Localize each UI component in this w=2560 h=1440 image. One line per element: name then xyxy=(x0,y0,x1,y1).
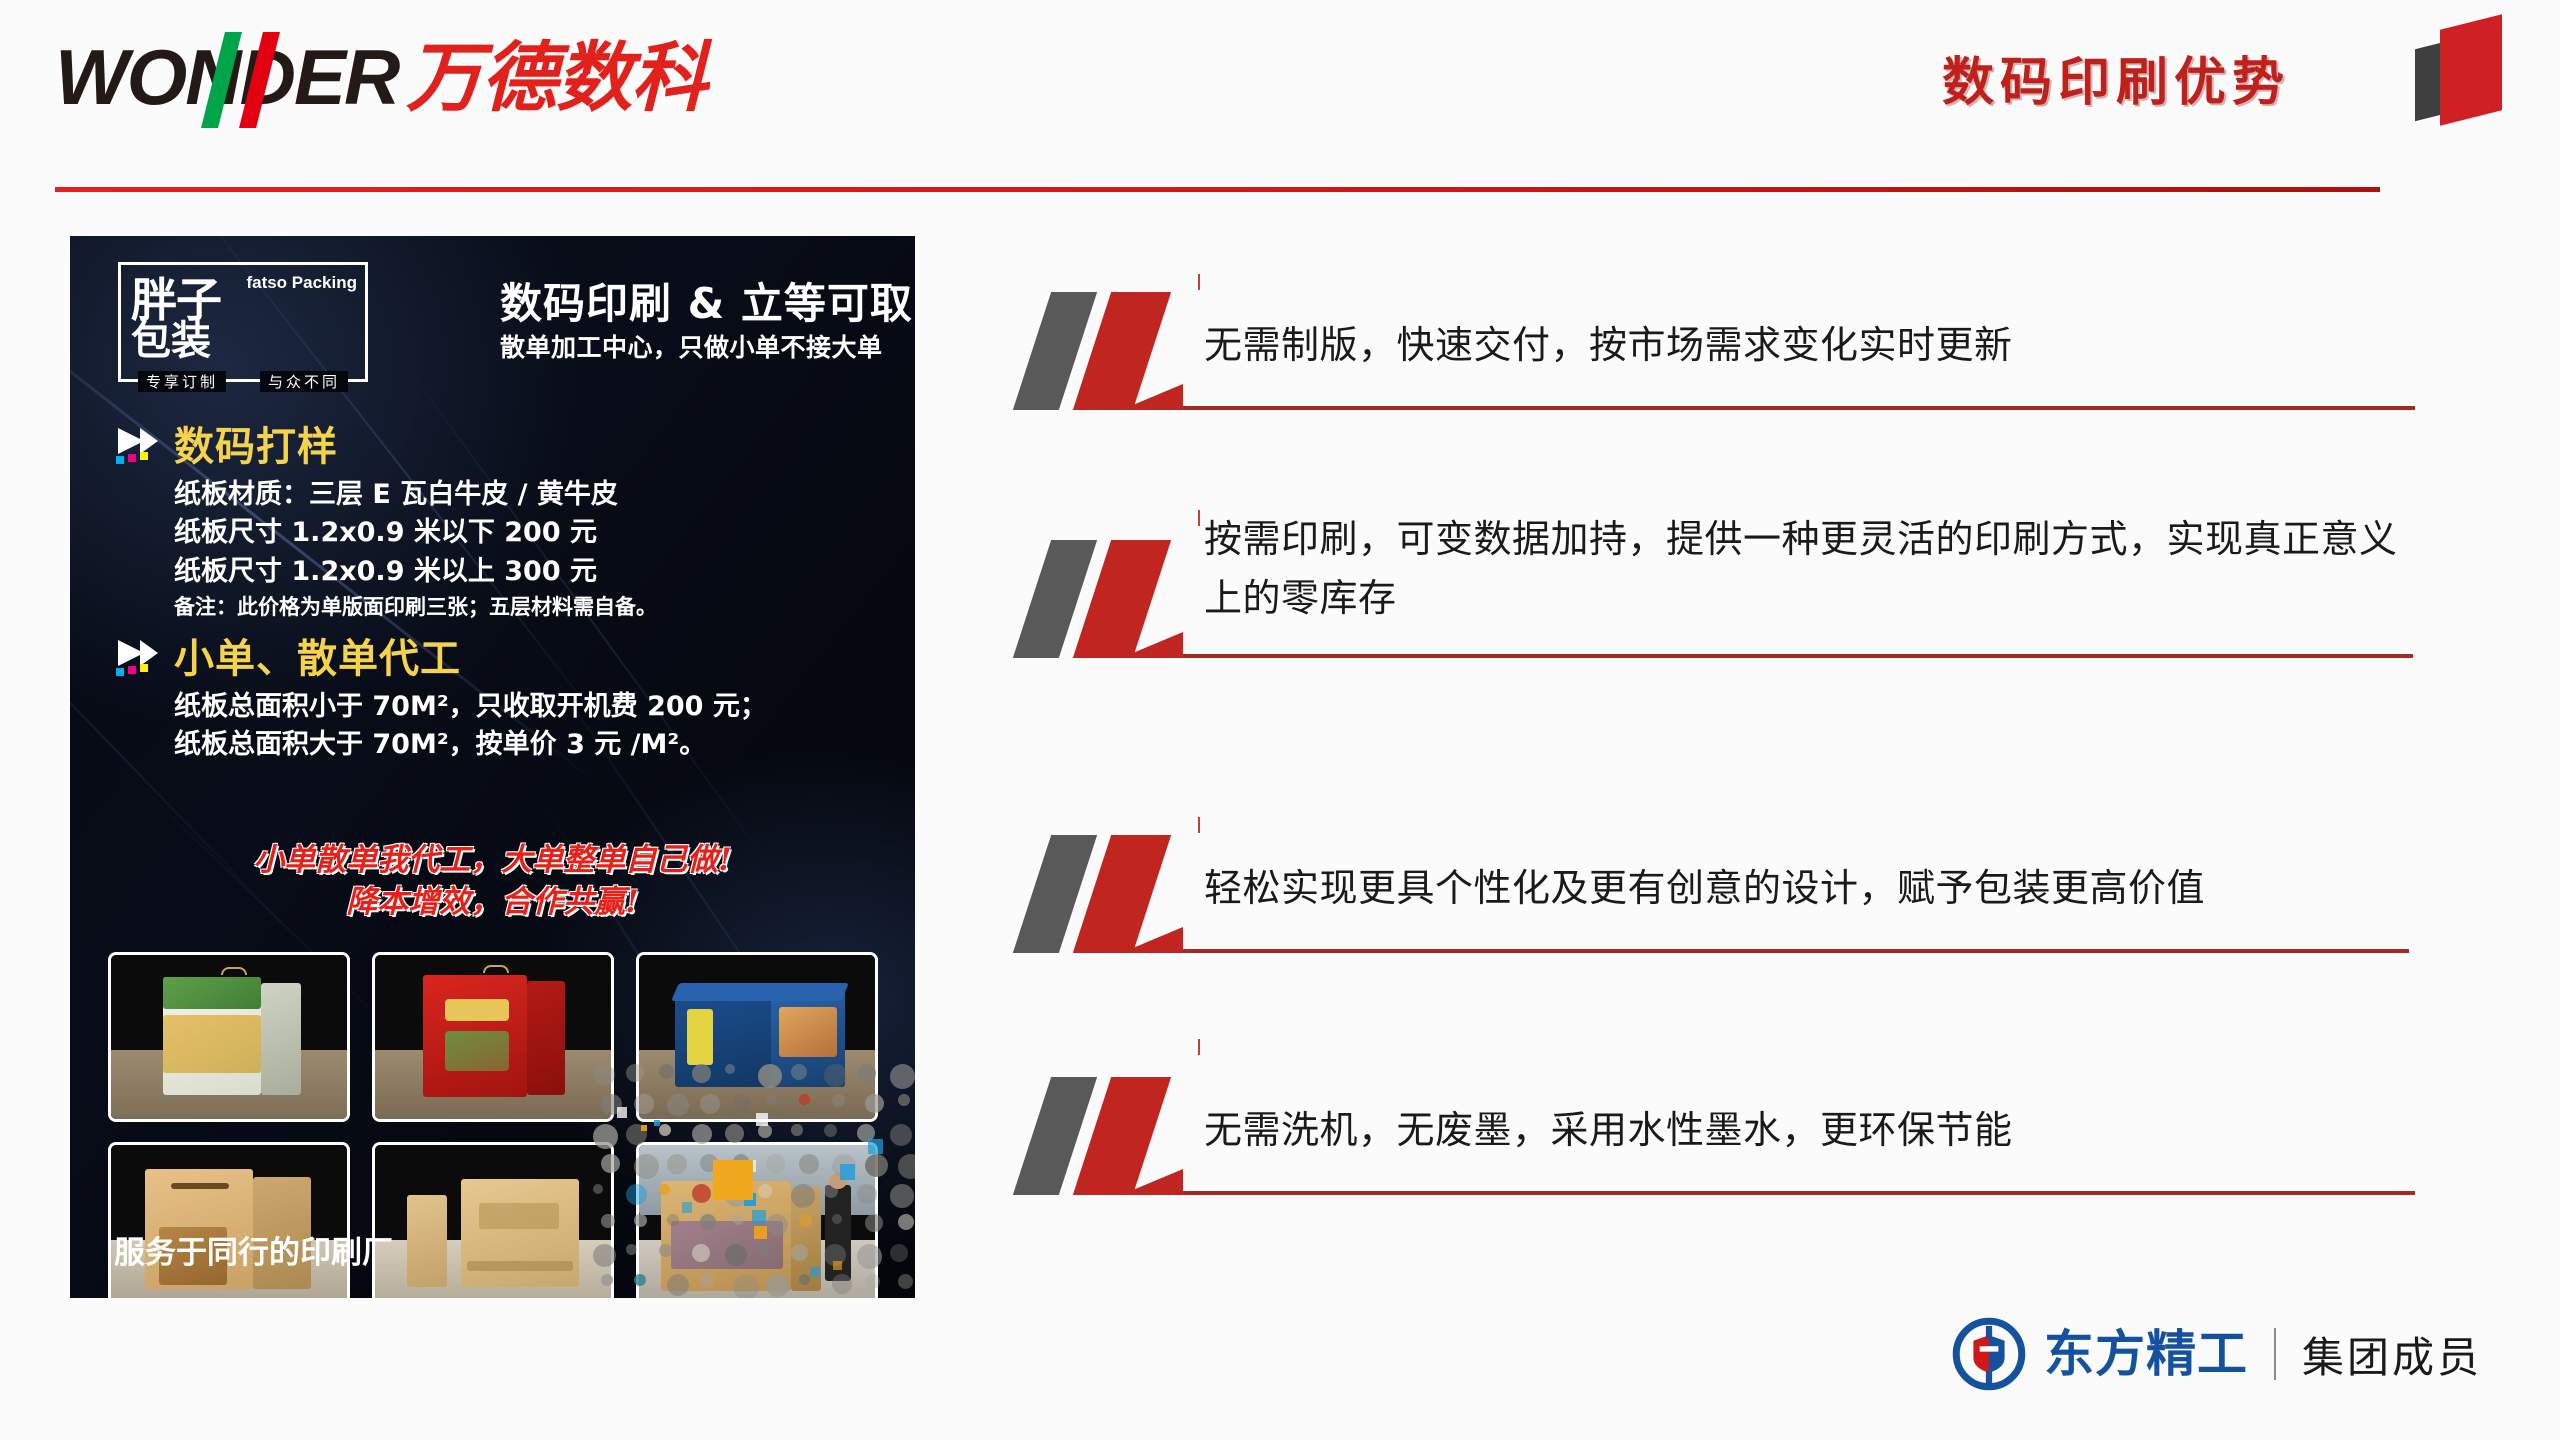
poster-subline: 散单加工中心，只做小单不接大单 xyxy=(500,328,883,364)
poster-dot-pattern xyxy=(585,1048,915,1298)
bullet-underline-3 xyxy=(1183,949,2409,953)
header-divider xyxy=(55,187,2380,192)
bullet-marker-icon xyxy=(1018,540,1186,658)
bullet-marker-icon xyxy=(1018,1077,1186,1195)
footer-divider xyxy=(2274,1328,2276,1380)
logo-wordmark-cn: 万德数科 xyxy=(406,40,706,116)
advantage-text-3: 轻松实现更具个性化及更有创意的设计，赋予包装更高价值 xyxy=(1204,859,2434,918)
poster-section-2-line-2: 纸板总面积大于 70M²，按单价 3 元 /M²。 xyxy=(174,726,767,764)
gallery-item-red-chicken-box xyxy=(372,952,614,1122)
poster-brand-tags: 专享订制 与众不同 xyxy=(121,371,365,392)
dongfang-jinggong-logo-icon xyxy=(1950,1315,2028,1393)
poster-brand-english: fatso Packing xyxy=(246,273,357,293)
poster-section-1-head: 数码打样 xyxy=(112,424,657,470)
group-member-logo: 东方精工 集团成员 xyxy=(1950,1315,2482,1393)
advantage-text-1: 无需制版，快速交付，按市场需求变化实时更新 xyxy=(1204,316,2434,375)
corner-decoration-icon xyxy=(2410,8,2522,118)
logo-wordmark-en: WONDER xyxy=(55,38,398,116)
poster-brand-tag-left: 专享订制 xyxy=(138,371,226,392)
bullet-tick-icon xyxy=(1198,1039,1200,1055)
poster-section-1-line-2: 纸板尺寸 1.2x0.9 米以下 200 元 xyxy=(174,514,657,552)
poster-footer-text: 服务于同行的印刷厂 xyxy=(114,1227,393,1272)
poster-slogan-line-1: 小单散单我代工，大单整单自己做! xyxy=(70,840,915,882)
poster-brand-name-line2: 包装 xyxy=(131,321,211,361)
gallery-item-kraft-handle-box xyxy=(108,1142,350,1298)
bullet-tick-icon xyxy=(1198,274,1200,290)
poster-section-digital-proofing: 数码打样 纸板材质：三层 E 瓦白牛皮 / 黄牛皮 纸板尺寸 1.2x0.9 米… xyxy=(112,424,657,623)
poster-slogan: 小单散单我代工，大单整单自己做! 降本增效，合作共赢! xyxy=(70,840,915,924)
gallery-item-honey-box xyxy=(108,952,350,1122)
poster-section-1-line-3: 纸板尺寸 1.2x0.9 米以上 300 元 xyxy=(174,553,657,591)
poster-section-2-body: 纸板总面积小于 70M²，只收取开机费 200 元； 纸板总面积大于 70M²，… xyxy=(174,688,767,765)
poster-section-1-note: 备注：此价格为单版面印刷三张；五层材料需自备。 xyxy=(174,593,657,623)
bullet-marker-icon xyxy=(1018,292,1186,410)
poster-brand-badge: 胖子 fatso Packing 包装 专享订制 与众不同 xyxy=(118,262,368,382)
poster-brand-tag-right: 与众不同 xyxy=(260,371,348,392)
poster-section-2-head: 小单、散单代工 xyxy=(112,636,767,682)
poster-slogan-line-2: 降本增效，合作共赢! xyxy=(70,882,915,924)
poster-section-2-line-1: 纸板总面积小于 70M²，只收取开机费 200 元； xyxy=(174,688,767,726)
page-title: 数码印刷优势 xyxy=(1942,40,2290,115)
company-logo: WONDER 万德数科 xyxy=(55,38,706,116)
advantage-text-2: 按需印刷，可变数据加持，提供一种更灵活的印刷方式，实现真正意义上的零库存 xyxy=(1204,510,2419,628)
poster-section-1-title: 数码打样 xyxy=(174,427,338,467)
poster-brand-name-line1: 胖子 xyxy=(131,277,221,323)
bullet-marker-icon xyxy=(1018,835,1186,953)
chevron-right-icon xyxy=(112,424,174,470)
bullet-underline-4 xyxy=(1183,1191,2415,1195)
corner-dark-shape xyxy=(2415,43,2441,121)
poster-section-1-body: 纸板材质：三层 E 瓦白牛皮 / 黄牛皮 纸板尺寸 1.2x0.9 米以下 20… xyxy=(174,476,657,623)
bullet-tick-icon xyxy=(1198,817,1200,833)
chevron-right-icon xyxy=(112,636,174,682)
group-company-name: 东方精工 xyxy=(2044,1329,2248,1379)
corner-red-shape xyxy=(2440,14,2502,125)
poster-headline: 数码印刷 & 立等可取 xyxy=(500,270,913,331)
advantage-text-4: 无需洗机，无废墨，采用水性墨水，更环保节能 xyxy=(1204,1101,2434,1160)
poster-section-small-order: 小单、散单代工 纸板总面积小于 70M²，只收取开机费 200 元； 纸板总面积… xyxy=(112,636,767,765)
poster-section-2-title: 小单、散单代工 xyxy=(174,639,461,679)
gallery-item-kraft-classic-box xyxy=(372,1142,614,1298)
poster-section-1-line-1: 纸板材质：三层 E 瓦白牛皮 / 黄牛皮 xyxy=(174,476,657,514)
bullet-underline-1 xyxy=(1183,406,2415,410)
bullet-underline-2 xyxy=(1183,654,2413,658)
group-member-label: 集团成员 xyxy=(2302,1324,2482,1385)
promo-poster-image: 胖子 fatso Packing 包装 专享订制 与众不同 数码印刷 & 立等可… xyxy=(70,236,915,1298)
slide-root: WONDER 万德数科 数码印刷优势 胖子 fatso Packing 包装 专… xyxy=(0,0,2560,1440)
bullet-tick-icon xyxy=(1198,510,1200,526)
